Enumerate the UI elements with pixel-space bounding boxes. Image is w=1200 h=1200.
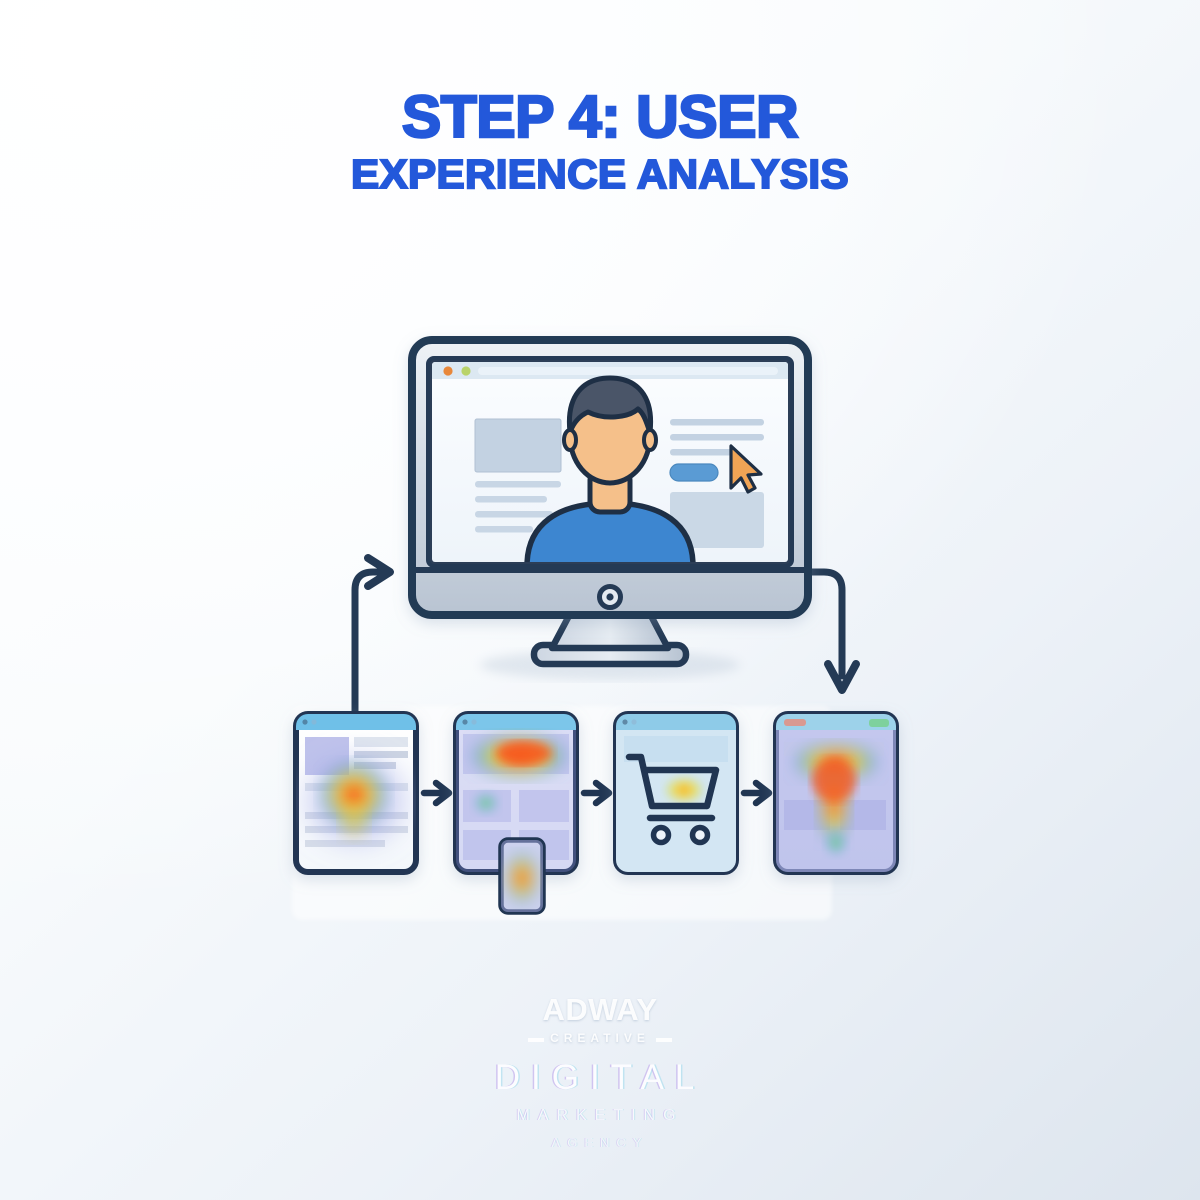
browser-dot-green bbox=[461, 366, 470, 375]
watermark-digital: DIGITAL MARKETING AGENCY bbox=[0, 1058, 1200, 1150]
watermark-adway: ADWAY CREATIVE bbox=[0, 992, 1200, 1047]
content-image-block bbox=[475, 419, 561, 472]
flow-arrow-right bbox=[812, 572, 856, 690]
card-arrow-1 bbox=[424, 783, 449, 803]
watermark-brand-sub: CREATIVE bbox=[530, 1031, 670, 1045]
watermark-line-3: AGENCY bbox=[0, 1135, 1200, 1150]
heatmap-card-landing[interactable] bbox=[294, 714, 418, 872]
mobile-device-overlay[interactable] bbox=[501, 840, 543, 912]
card-arrow-3 bbox=[744, 783, 769, 803]
monitor-screen bbox=[432, 362, 788, 575]
heatmap-card-checkout[interactable] bbox=[776, 714, 896, 872]
card-arrow-2 bbox=[584, 783, 609, 803]
heatmap-card-cart[interactable] bbox=[616, 714, 736, 872]
card3-hotspot bbox=[664, 777, 704, 803]
cta-button bbox=[670, 464, 718, 481]
browser-dot-orange bbox=[443, 366, 452, 375]
cart-wheel-left bbox=[654, 828, 669, 843]
watermark-line-2: MARKETING bbox=[0, 1107, 1200, 1125]
poster-canvas: STEP 4: USER EXPERIENCE ANALYSIS bbox=[0, 0, 1200, 1200]
cart-wheel-right bbox=[693, 828, 708, 843]
watermark-line-1: DIGITAL bbox=[0, 1058, 1200, 1098]
mobile-hotspot bbox=[505, 852, 539, 904]
flow-arrow-left bbox=[355, 558, 390, 716]
watermark-brand: ADWAY bbox=[0, 992, 1200, 1028]
desktop-monitor bbox=[412, 340, 808, 680]
heatmap-card-category[interactable] bbox=[456, 714, 576, 912]
